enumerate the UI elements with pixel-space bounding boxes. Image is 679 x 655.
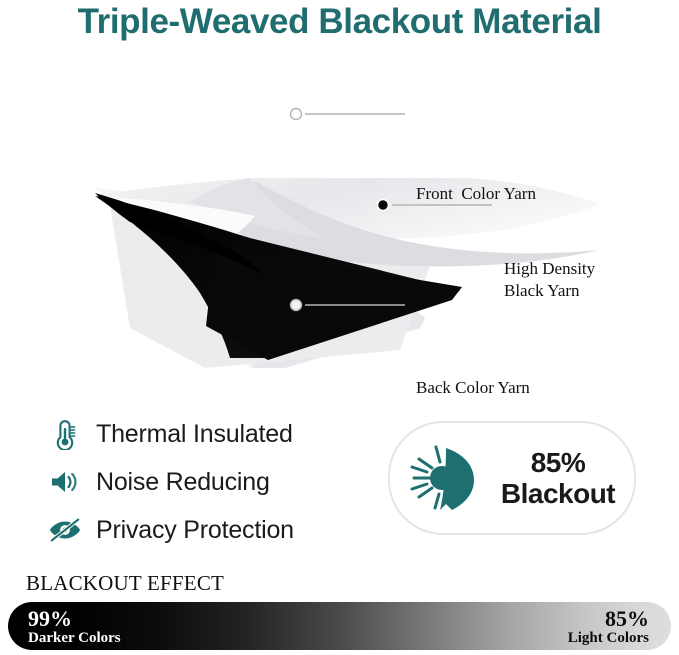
fabric-layers-illustration	[0, 78, 679, 368]
feature-label-privacy-protection: Privacy Protection	[96, 516, 294, 545]
light-colors-caption: Light Colors	[568, 630, 649, 647]
darker-colors-stat: 99% Darker Colors	[28, 607, 121, 647]
callout-label-high-density-black-yarn: High Density Black Yarn	[504, 258, 595, 303]
darker-colors-caption: Darker Colors	[28, 630, 121, 647]
badge-percent: 85%	[531, 447, 586, 478]
feature-item-privacy-protection: Privacy Protection	[48, 506, 368, 554]
feature-label-noise-reducing: Noise Reducing	[96, 468, 270, 497]
light-colors-stat: 85% Light Colors	[568, 607, 649, 647]
feature-list: Thermal Insulated Noise Reducing Privacy…	[48, 410, 368, 554]
callout-label-front-color-yarn: Front Color Yarn	[416, 183, 536, 205]
blackout-percentage-badge: 85% Blackout	[388, 421, 636, 535]
blackout-effect-heading: BLACKOUT EFFECT	[26, 571, 224, 596]
badge-text-block: 85% Blackout	[488, 447, 634, 510]
page-title: Triple-Weaved Blackout Material	[0, 2, 679, 42]
light-colors-percent: 85%	[568, 607, 649, 630]
eye-slash-icon	[48, 513, 82, 547]
speaker-sound-icon	[48, 465, 82, 499]
feature-item-thermal-insulated: Thermal Insulated	[48, 410, 368, 458]
sun-blocked-by-curtain-icon	[404, 441, 488, 515]
fabric-layer-diagram: Front Color Yarn High Density Black Yarn…	[0, 78, 679, 368]
callout-front-leader	[291, 109, 406, 120]
callout-label-back-color-yarn: Back Color Yarn	[416, 377, 530, 399]
blackout-effect-gradient-bar: 99% Darker Colors 85% Light Colors	[8, 602, 671, 650]
thermometer-icon	[48, 417, 82, 451]
badge-caption: Blackout	[501, 478, 615, 509]
feature-item-noise-reducing: Noise Reducing	[48, 458, 368, 506]
darker-colors-percent: 99%	[28, 607, 121, 630]
feature-label-thermal-insulated: Thermal Insulated	[96, 420, 293, 449]
